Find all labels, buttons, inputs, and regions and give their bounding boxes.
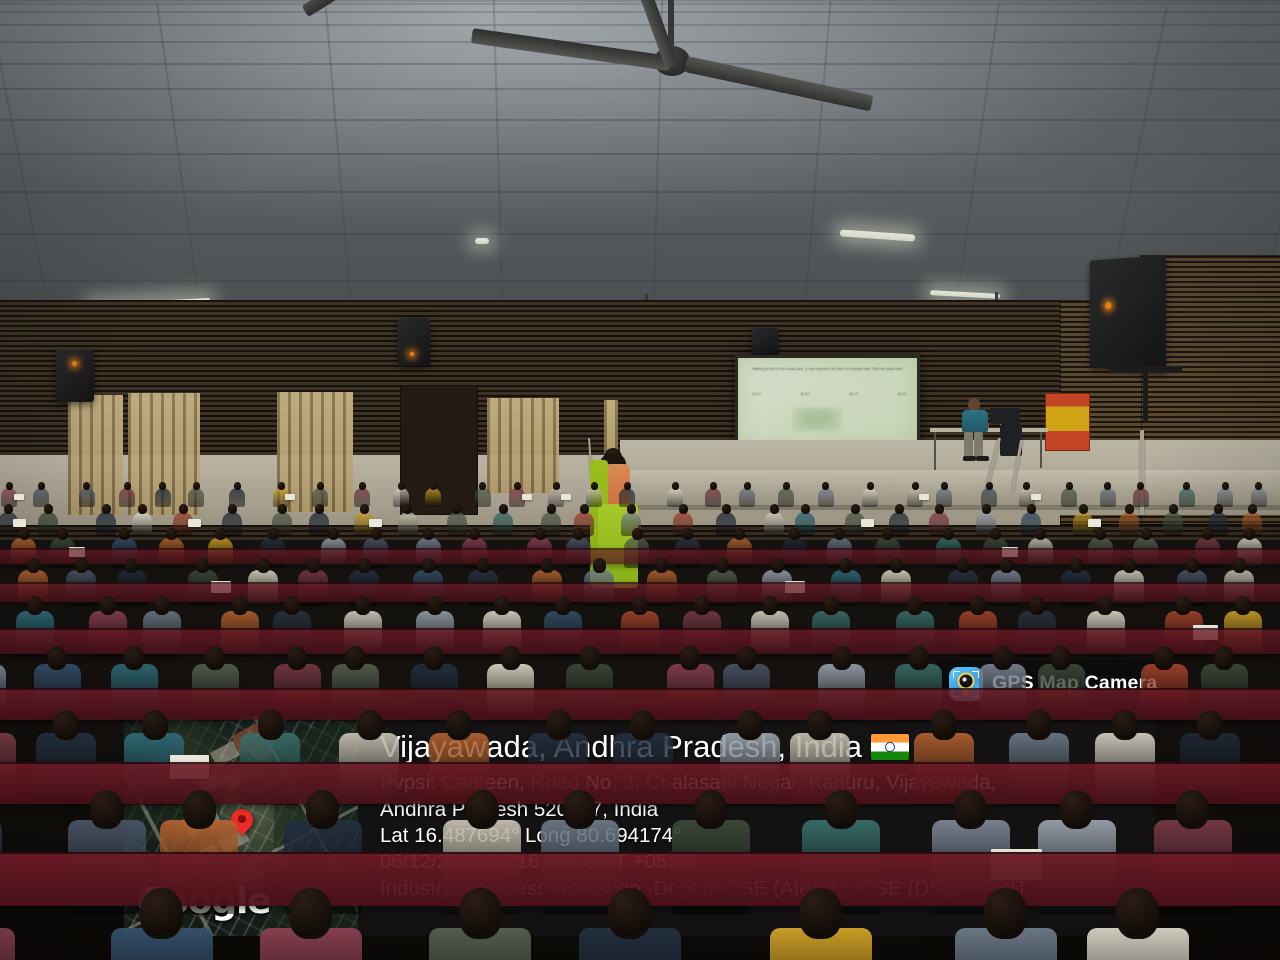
wall-speaker xyxy=(752,328,778,358)
slide-option: 3) 1 h xyxy=(849,392,858,396)
screenshot-root: Walking at 3/4 of his usual pace, a man … xyxy=(0,0,1280,960)
slide-graphic xyxy=(792,408,842,431)
slide-options: 1) 2 h 2) 3 h 3) 1 h 4) 4 h xyxy=(752,392,906,396)
slide-option: 2) 3 h xyxy=(801,392,810,396)
wall-speaker-main xyxy=(1090,255,1166,373)
projector-screen: Walking at 3/4 of his usual pace, a man … xyxy=(735,355,920,450)
speaker-bracket xyxy=(1143,370,1148,422)
stage-cabinet xyxy=(1045,393,1090,451)
stage-table xyxy=(930,428,1048,432)
audience-area xyxy=(0,470,1280,960)
ceiling-vent xyxy=(475,238,489,244)
india-flag-icon xyxy=(871,734,909,760)
slide-option: 4) 4 h xyxy=(898,392,907,396)
ceiling-tile-grid xyxy=(0,0,1280,330)
stage-chair-bag xyxy=(990,408,1020,424)
ceiling xyxy=(0,0,1280,330)
wall-speaker xyxy=(56,350,94,402)
slide-question-text: Walking at 3/4 of his usual pace, a man … xyxy=(752,367,906,372)
slide-option: 1) 2 h xyxy=(752,392,761,396)
projector-screen-surface: Walking at 3/4 of his usual pace, a man … xyxy=(738,358,917,447)
wall-speaker xyxy=(398,318,430,366)
